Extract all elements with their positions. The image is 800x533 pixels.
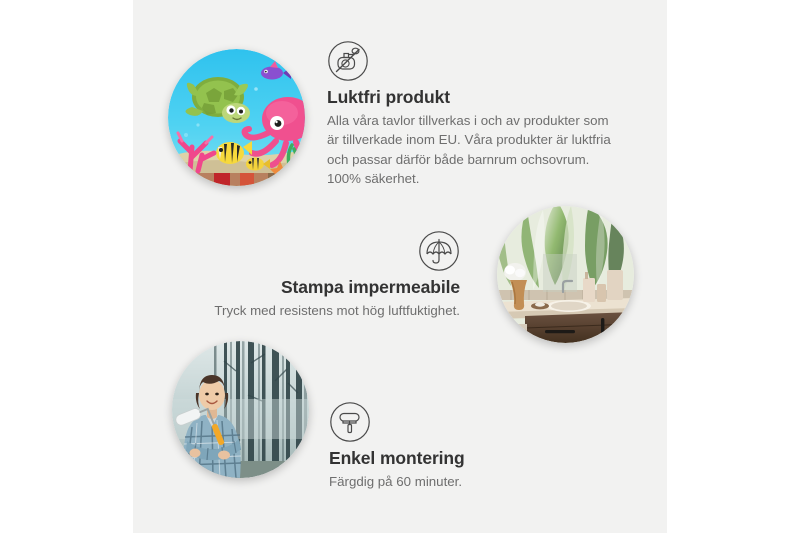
paint-roller-icon bbox=[329, 401, 371, 443]
feature-title: Luktfri produkt bbox=[327, 87, 617, 107]
feature-enkel-montering: Enkel montering Färgdig på 60 minuter. bbox=[329, 401, 579, 491]
feature-title: Enkel montering bbox=[329, 448, 579, 468]
photo-underwater-scene bbox=[168, 49, 305, 186]
feature-luktfri-produkt: Luktfri produkt Alla våra tavlor tillver… bbox=[327, 40, 617, 188]
feature-description: Färgdig på 60 minuter. bbox=[329, 472, 579, 491]
photo-woman-with-paint-roller-forest bbox=[172, 341, 309, 478]
no-odor-spray-bottle-icon bbox=[327, 40, 369, 82]
feature-stampa-impermeabile: Stampa impermeabile Tryck med resistens … bbox=[188, 230, 460, 320]
feature-description: Alla våra tavlor tillverkas i och av pro… bbox=[327, 111, 617, 188]
umbrella-icon bbox=[418, 230, 460, 272]
content-canvas: Luktfri produkt Alla våra tavlor tillver… bbox=[133, 0, 667, 533]
promo-banner: Luktfri produkt Alla våra tavlor tillver… bbox=[0, 0, 800, 533]
photo-bathroom-tropical-wallpaper bbox=[497, 206, 634, 343]
feature-description: Tryck med resistens mot hög luftfuktighe… bbox=[188, 301, 460, 320]
feature-title: Stampa impermeabile bbox=[188, 277, 460, 297]
